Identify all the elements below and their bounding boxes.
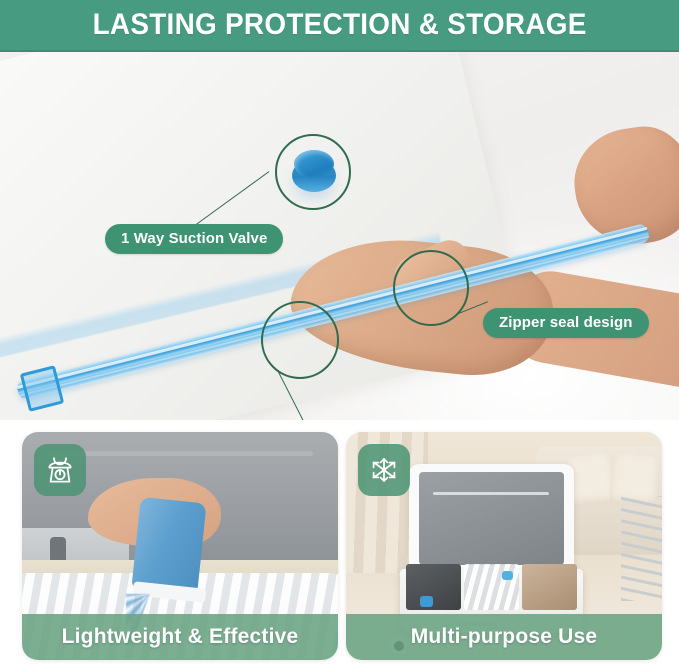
suitcase-lid <box>409 464 573 578</box>
panel-caption-bar: Lightweight & Effective <box>22 614 338 660</box>
callout-circle-suction-valve <box>275 134 351 210</box>
callout-circle-full-zipper <box>261 301 339 379</box>
callout-label-zipper-seal: Zipper seal design <box>483 308 649 338</box>
multi-direction-arrows-icon <box>358 444 410 496</box>
packed-bag-dark <box>406 564 461 610</box>
header-banner: LASTING PROTECTION & STORAGE <box>0 0 679 52</box>
hero-image: 1 Way Suction Valve Zipper seal design F… <box>0 52 679 420</box>
panel-caption-text: Multi-purpose Use <box>411 625 598 649</box>
feature-panel-lightweight-effective: Lightweight & Effective <box>22 432 338 660</box>
feature-panels: Lightweight & Effective <box>0 424 679 669</box>
callout-circle-zipper-seal <box>393 250 469 326</box>
vacuum-pump-body <box>131 497 207 595</box>
suitcase-lid-lining <box>419 472 564 565</box>
product-infographic: LASTING PROTECTION & STORAGE <box>0 0 679 669</box>
packed-bag-tan <box>522 564 577 610</box>
suitcase-contents <box>406 564 577 610</box>
panel-caption-bar: Multi-purpose Use <box>346 614 662 660</box>
page-title: LASTING PROTECTION & STORAGE <box>92 8 586 42</box>
suitcase-lid-zipper <box>433 492 549 495</box>
bag-valve <box>502 571 513 580</box>
panel-caption-text: Lightweight & Effective <box>62 625 299 649</box>
callout-label-text: 1 Way Suction Valve <box>121 230 267 247</box>
kitchen-scale-icon <box>34 444 86 496</box>
bag-valve <box>420 596 433 607</box>
callout-label-suction-valve: 1 Way Suction Valve <box>105 224 283 254</box>
callout-label-text: Zipper seal design <box>499 314 633 331</box>
feature-panel-multi-purpose-use: Multi-purpose Use <box>346 432 662 660</box>
